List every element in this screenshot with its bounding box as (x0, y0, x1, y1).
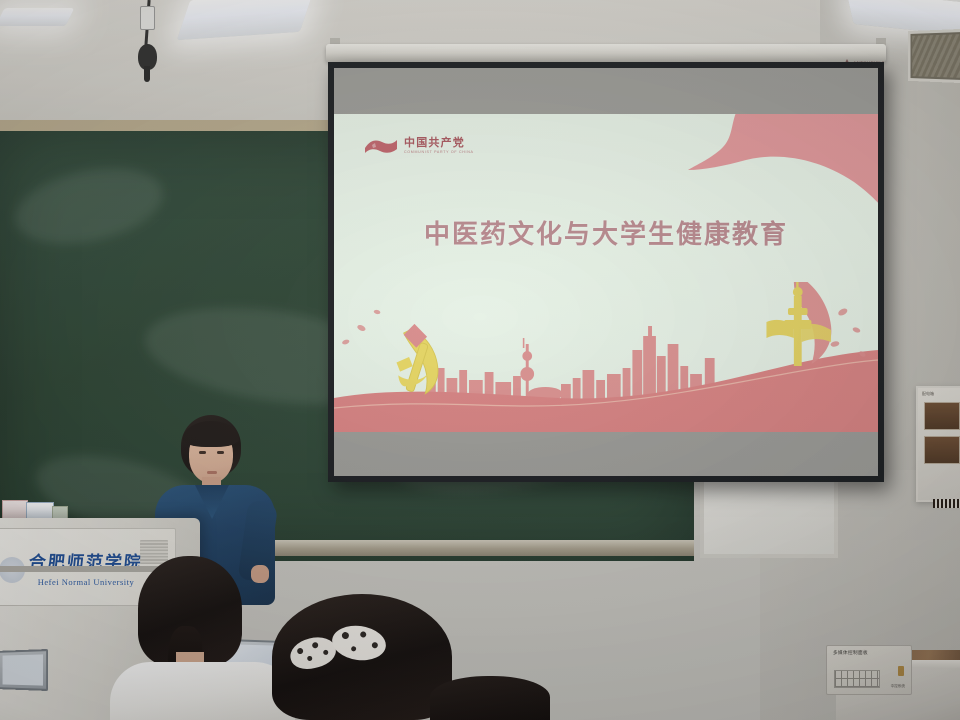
projection-screen-frame: 中国共产党 COMMUNIST PARTY OF CHINA 中医药文化与大学生… (328, 62, 884, 482)
microphone-clip (140, 6, 155, 30)
control-panel-knob[interactable] (898, 666, 904, 676)
slide-title: 中医药文化与大学生健康教育 (334, 214, 878, 251)
party-logo-text: 中国共产党 COMMUNIST PARTY OF CHINA (404, 137, 474, 154)
party-name-en: COMMUNIST PARTY OF CHINA (404, 151, 474, 155)
control-panel-subtitle: 中控系统 (891, 684, 905, 689)
student-front-left (110, 556, 295, 720)
breaker-label: 配电箱 (922, 391, 934, 397)
letterbox-bottom (334, 432, 878, 476)
fluorescent-light-corner (0, 8, 74, 26)
student-front-right (272, 594, 452, 720)
chalk-smudge (8, 156, 169, 256)
letterbox-top (334, 68, 878, 114)
student-far-right (430, 676, 550, 720)
wall-notice-frame (908, 29, 960, 84)
party-logo: 中国共产党 COMMUNIST PARTY OF CHINA (364, 136, 474, 156)
presenter-eye-right (217, 451, 224, 454)
electrical-breaker-box[interactable]: 配电箱 (916, 386, 960, 502)
projection-screen-surface: 中国共产党 COMMUNIST PARTY OF CHINA 中医药文化与大学生… (334, 68, 878, 476)
classroom-photo: MITSUBISHI (0, 0, 960, 720)
laptop-screen (3, 654, 43, 685)
breaker-window-lower (924, 436, 960, 464)
control-panel-buttons[interactable] (834, 670, 880, 688)
control-panel-title: 多媒体控制面板 (833, 651, 868, 658)
presentation-slide: 中国共产党 COMMUNIST PARTY OF CHINA 中医药文化与大学生… (334, 114, 878, 432)
laptop[interactable] (0, 649, 48, 691)
breaker-window-upper (924, 402, 960, 430)
ceiling-microphone (128, 0, 168, 90)
presenter-eye-left (199, 451, 206, 454)
slide-bottom-artwork (334, 282, 878, 432)
projection-screen-roller[interactable] (326, 44, 886, 62)
party-flag-icon (364, 136, 398, 156)
microphone-tip (144, 66, 150, 82)
party-flag-ribbon-icon (668, 114, 878, 218)
party-name-cn: 中国共产党 (404, 137, 474, 148)
breaker-switch-row[interactable] (933, 499, 960, 508)
presenter-mouth (207, 471, 217, 474)
student-shirt (110, 662, 295, 720)
av-control-panel[interactable]: 多媒体控制面板 中控系统 (826, 645, 912, 695)
